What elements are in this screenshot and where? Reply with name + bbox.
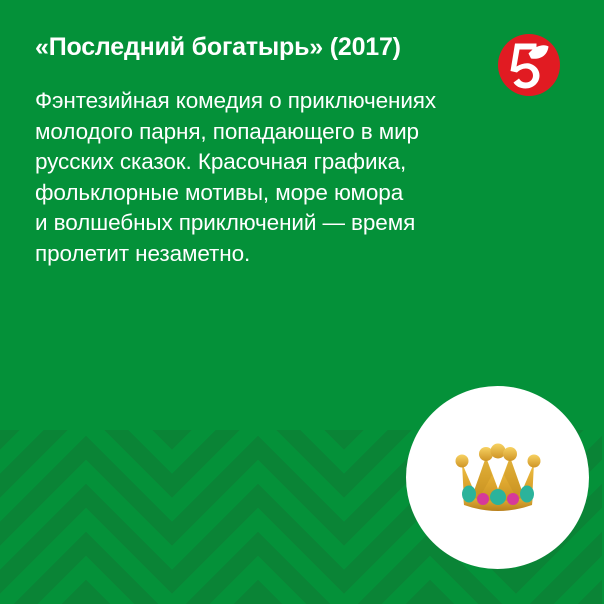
pyaterochka-logo xyxy=(495,31,563,99)
crown-medallion xyxy=(406,386,589,569)
crown-finial xyxy=(503,447,517,461)
crown-gem-teal xyxy=(490,489,506,505)
crown-finial xyxy=(455,454,468,467)
chevron-cell xyxy=(0,430,86,604)
crown-gem-teal xyxy=(520,485,534,502)
crown-finial xyxy=(527,454,540,467)
promo-card: «Последний богатырь» (2017) Фэнтезийная … xyxy=(0,0,604,604)
description-text: Фэнтезийная комедия о приключениях молод… xyxy=(35,86,485,269)
page-title: «Последний богатырь» (2017) xyxy=(35,32,465,62)
crown-gem-teal xyxy=(462,485,476,502)
crown-icon xyxy=(452,439,544,517)
chevron-cell xyxy=(172,430,258,604)
chevron-cell xyxy=(86,430,172,604)
crown-gem-magenta xyxy=(507,493,519,505)
chevron-cell xyxy=(258,430,344,604)
crown-gem-magenta xyxy=(477,493,489,505)
crown-finial xyxy=(490,443,505,458)
